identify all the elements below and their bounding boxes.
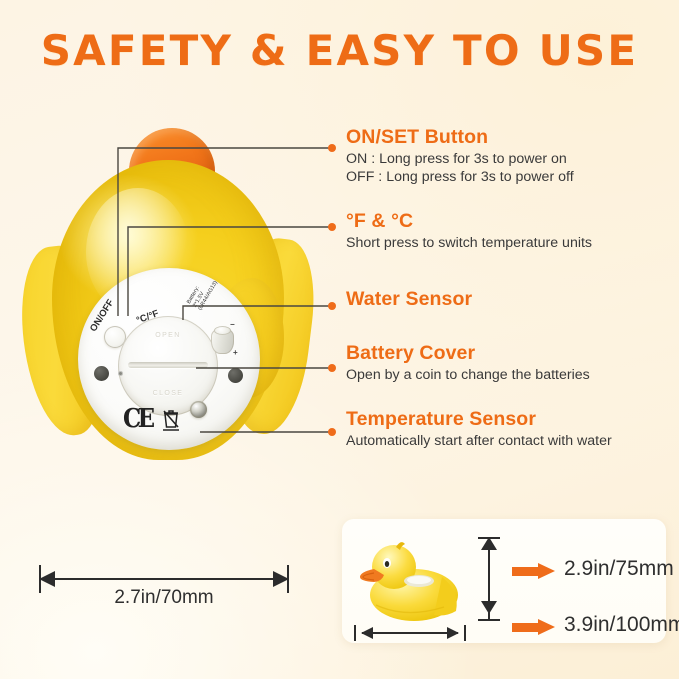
length-cap-right	[464, 625, 466, 641]
battery-cover[interactable]: OPEN CLOSE	[118, 316, 218, 416]
panel-pad-left	[94, 366, 109, 381]
length-dimension	[354, 625, 466, 641]
ce-mark-icon: CE	[123, 404, 152, 434]
control-panel: ON/OFF °C/°F Battery:2*1.5V(LR44/AG13) O…	[78, 268, 260, 450]
panel-pad-right	[228, 368, 243, 383]
width-dimension: 2.7in/70mm	[28, 565, 300, 611]
duck-rear-view-illustration: ON/OFF °C/°F Battery:2*1.5V(LR44/AG13) O…	[24, 128, 310, 468]
callout-water-sensor: Water Sensor	[328, 288, 472, 312]
cover-open-text: OPEN	[118, 332, 218, 339]
callout-line-1: ON : Long press for 3s to power on	[346, 150, 574, 168]
length-pointer-arrow-icon	[512, 619, 556, 635]
length-arrow-right	[447, 627, 459, 639]
minus-sign-label: −	[230, 320, 235, 329]
temperature-sensor[interactable]	[190, 401, 207, 418]
width-dimension-label: 2.7in/70mm	[28, 587, 300, 609]
size-inset-card: 2.9in/75mm 3.9in/100mm	[342, 519, 666, 643]
panel-screw	[118, 371, 123, 376]
plus-sign-label: +	[233, 348, 238, 357]
callout-line-2: OFF : Long press for 3s to power off	[346, 168, 574, 186]
callout-line-1: Automatically start after contact with w…	[346, 432, 612, 450]
height-arrow-down	[481, 601, 497, 614]
callout-heading: ON/SET Button	[346, 126, 574, 149]
height-cap-bottom	[478, 619, 500, 621]
dimension-arrow-right	[273, 571, 289, 587]
length-cap-left	[354, 625, 356, 641]
callout-heading: Temperature Sensor	[346, 408, 612, 431]
cover-close-text: CLOSE	[118, 390, 218, 397]
polarity-knob-top	[214, 326, 231, 335]
weee-bin-icon	[161, 408, 181, 432]
callout-heading: Battery Cover	[346, 342, 590, 365]
height-arrow-up	[481, 537, 497, 550]
callout-on-set-button: ON/SET Button ON : Long press for 3s to …	[328, 126, 574, 187]
length-line	[362, 632, 458, 634]
callout-battery-cover: Battery Cover Open by a coin to change t…	[328, 342, 590, 384]
duck-side-view-illustration	[356, 533, 464, 627]
callout-line-1: Short press to switch temperature units	[346, 234, 592, 252]
battery-spec-label: Battery:2*1.5V(LR44/AG13)	[186, 274, 220, 312]
height-dimension	[476, 531, 502, 627]
dimension-arrow-left	[39, 571, 55, 587]
callout-temperature-sensor: Temperature Sensor Automatically start a…	[328, 408, 612, 450]
height-pointer-arrow-icon	[512, 563, 556, 579]
length-arrow-left	[361, 627, 373, 639]
length-dimension-label: 3.9in/100mm	[564, 613, 679, 637]
infographic-canvas: SAFETY & EASY TO USE ON/OFF °C/°F Batter…	[0, 0, 679, 679]
coin-slot	[128, 362, 208, 368]
callout-heading: °F & °C	[346, 210, 592, 233]
callout-line-1: Open by a coin to change the batteries	[346, 366, 590, 384]
height-dimension-label: 2.9in/75mm	[564, 557, 674, 581]
page-title: SAFETY & EASY TO USE	[0, 26, 679, 75]
callout-temperature-units: °F & °C Short press to switch temperatur…	[328, 210, 592, 252]
dimension-bar	[40, 578, 288, 580]
callout-heading: Water Sensor	[346, 288, 472, 311]
